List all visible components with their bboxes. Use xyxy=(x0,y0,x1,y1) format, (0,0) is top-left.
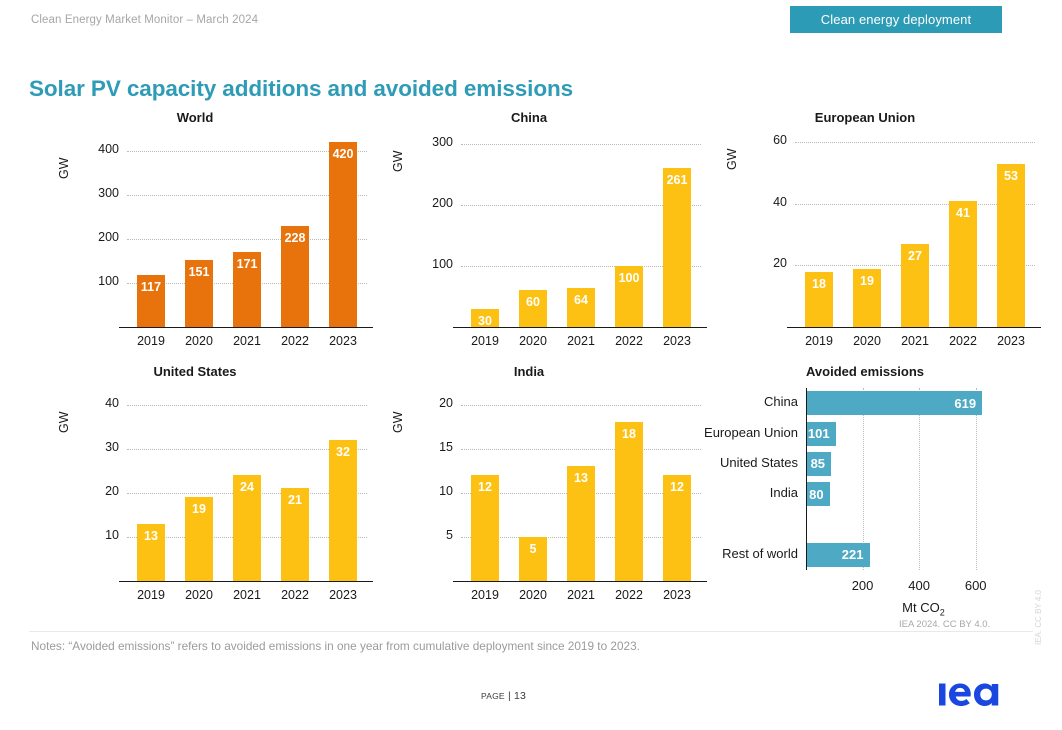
y-axis-unit: GW xyxy=(391,150,405,172)
topic-badge-label: Clean energy deployment xyxy=(821,12,971,27)
x-tick-2020: 2020 xyxy=(175,588,223,602)
source-note: IEA 2024. CC BY 4.0. xyxy=(899,619,990,630)
bar-value-united-states-0: 13 xyxy=(137,530,166,543)
gridline-y-300 xyxy=(461,144,701,145)
y-tick-100: 100 xyxy=(411,257,453,271)
y-tick-20: 20 xyxy=(77,484,119,498)
x-tick-2021: 2021 xyxy=(223,588,271,602)
page-number-value: 13 xyxy=(514,690,526,702)
chart-title-india: India xyxy=(364,364,694,379)
x-tick-2021: 2021 xyxy=(223,334,271,348)
x-axis-line xyxy=(453,581,707,582)
chart-panel-avoided-emissions: Avoided emissionsChina619European Union1… xyxy=(698,364,1032,614)
bar-value-china-2: 64 xyxy=(567,294,596,307)
bar-china-1: 60 xyxy=(519,290,548,327)
page-number-label-rest: AGE xyxy=(486,691,505,701)
bar-avoided-emissions-0: 619 xyxy=(807,391,982,415)
y-axis-unit: GW xyxy=(391,411,405,433)
x-tick-2019: 2019 xyxy=(127,334,175,348)
bar-value-india-0: 12 xyxy=(471,481,500,494)
bar-value-european-union-2: 27 xyxy=(901,250,930,263)
iea-logo xyxy=(939,675,1009,709)
cc-license-vertical: IEA. CC BY 4.0 xyxy=(1034,590,1043,645)
x-tick-2019: 2019 xyxy=(461,588,509,602)
bar-value-india-1: 5 xyxy=(519,543,548,556)
bar-european-union-1: 19 xyxy=(853,269,882,328)
bar-value-united-states-1: 19 xyxy=(185,503,214,516)
bar-value-avoided-emissions-1: 101 xyxy=(808,422,830,446)
chart-panel-china: China10020030030201960202064202110020222… xyxy=(364,110,694,350)
category-label-2: United States xyxy=(638,455,798,470)
y-tick-60: 60 xyxy=(745,133,787,147)
bar-value-european-union-1: 19 xyxy=(853,275,882,288)
bar-china-3: 100 xyxy=(615,266,644,327)
y-tick-5: 5 xyxy=(411,528,453,542)
bar-value-united-states-2: 24 xyxy=(233,481,262,494)
x-tick-2022: 2022 xyxy=(271,588,319,602)
footer-divider xyxy=(29,631,1033,632)
bar-european-union-3: 41 xyxy=(949,201,978,327)
y-tick-40: 40 xyxy=(745,195,787,209)
chart-title-european-union: European Union xyxy=(698,110,1032,125)
category-label-0: China xyxy=(638,394,798,409)
x-tick-2020: 2020 xyxy=(175,334,223,348)
bar-value-avoided-emissions-2: 85 xyxy=(811,452,825,476)
y-tick-30: 30 xyxy=(77,440,119,454)
plot-area-united-states: 10203040132019192020242021212022322023GW xyxy=(127,387,367,581)
x-axis-line xyxy=(119,327,373,328)
bar-china-0: 30 xyxy=(471,309,500,327)
bar-avoided-emissions-1: 101 xyxy=(807,422,836,446)
bar-value-world-1: 151 xyxy=(185,266,214,279)
y-tick-200: 200 xyxy=(77,230,119,244)
bar-value-china-3: 100 xyxy=(615,272,644,285)
bar-value-china-0: 30 xyxy=(471,315,500,328)
bar-value-china-4: 261 xyxy=(663,174,692,187)
plot-area-china: 1002003003020196020206420211002022261202… xyxy=(461,133,701,327)
bar-european-union-2: 27 xyxy=(901,244,930,327)
bar-european-union-4: 53 xyxy=(997,164,1026,327)
y-tick-300: 300 xyxy=(411,135,453,149)
gridline-y-60 xyxy=(795,142,1035,143)
x-tick-2019: 2019 xyxy=(127,588,175,602)
x-tick-600: 600 xyxy=(946,578,1006,593)
y-tick-20: 20 xyxy=(745,256,787,270)
document-kicker: Clean Energy Market Monitor – March 2024 xyxy=(31,14,258,26)
y-tick-200: 200 xyxy=(411,196,453,210)
x-tick-2023: 2023 xyxy=(319,334,367,348)
y-tick-40: 40 xyxy=(77,396,119,410)
y-tick-300: 300 xyxy=(77,186,119,200)
page-number: PAGE | 13 xyxy=(481,690,526,702)
plot-area-european-union: 204060182019192020272021412022532023GW xyxy=(795,133,1035,327)
x-tick-400: 400 xyxy=(889,578,949,593)
bar-value-united-states-3: 21 xyxy=(281,494,310,507)
topic-badge: Clean energy deployment xyxy=(790,6,1002,33)
bar-value-avoided-emissions-0: 619 xyxy=(954,391,976,415)
page-number-separator: | xyxy=(508,690,511,702)
x-tick-2022: 2022 xyxy=(605,588,653,602)
chart-panel-united-states: United States102030401320191920202420212… xyxy=(30,364,360,604)
x-axis-unit-subscript: 2 xyxy=(940,608,945,618)
chart-panel-european-union: European Union20406018201919202027202141… xyxy=(698,110,1032,350)
y-axis-unit: GW xyxy=(725,149,739,171)
x-tick-2020: 2020 xyxy=(509,334,557,348)
gridline-x-600 xyxy=(976,388,977,570)
y-axis-unit: GW xyxy=(57,411,71,433)
x-tick-2020: 2020 xyxy=(843,334,891,348)
gridline-y-40 xyxy=(127,405,367,406)
plot-area-avoided-emissions: China619European Union101United States85… xyxy=(806,388,1004,570)
x-tick-2021: 2021 xyxy=(891,334,939,348)
bar-india-1: 5 xyxy=(519,537,548,581)
bar-value-european-union-0: 18 xyxy=(805,278,834,291)
bar-avoided-emissions-5: 221 xyxy=(807,543,870,567)
x-tick-2021: 2021 xyxy=(557,588,605,602)
bar-value-china-1: 60 xyxy=(519,296,548,309)
x-axis-line xyxy=(787,327,1041,328)
bar-value-avoided-emissions-3: 80 xyxy=(809,482,823,506)
bar-value-world-2: 171 xyxy=(233,258,262,271)
x-tick-2022: 2022 xyxy=(605,334,653,348)
bar-united-states-4: 32 xyxy=(329,440,358,581)
x-tick-2023: 2023 xyxy=(653,588,701,602)
bar-value-united-states-4: 32 xyxy=(329,446,358,459)
bar-world-0: 117 xyxy=(137,275,166,327)
bar-united-states-2: 24 xyxy=(233,475,262,581)
bar-china-4: 261 xyxy=(663,168,692,327)
x-tick-2023: 2023 xyxy=(653,334,701,348)
bar-avoided-emissions-2: 85 xyxy=(807,452,831,476)
chart-title-world: World xyxy=(30,110,360,125)
bar-united-states-0: 13 xyxy=(137,524,166,581)
chart-panel-world: World10020030040011720191512020171202122… xyxy=(30,110,360,350)
y-tick-15: 15 xyxy=(411,440,453,454)
x-tick-2022: 2022 xyxy=(271,334,319,348)
page-title: Solar PV capacity additions and avoided … xyxy=(29,76,573,102)
x-tick-2019: 2019 xyxy=(795,334,843,348)
bar-value-india-2: 13 xyxy=(567,472,596,485)
gridline-y-15 xyxy=(461,449,701,450)
bar-value-world-4: 420 xyxy=(329,148,358,161)
bar-avoided-emissions-3: 80 xyxy=(807,482,830,506)
bar-value-european-union-4: 53 xyxy=(997,170,1026,183)
y-tick-10: 10 xyxy=(77,528,119,542)
x-axis-unit: Mt CO2 xyxy=(902,600,945,618)
y-tick-10: 10 xyxy=(411,484,453,498)
bar-united-states-3: 21 xyxy=(281,488,310,581)
gridline-x-400 xyxy=(919,388,920,570)
x-tick-2022: 2022 xyxy=(939,334,987,348)
bar-world-4: 420 xyxy=(329,142,358,327)
x-axis-unit-main: Mt CO xyxy=(902,600,940,615)
bar-value-world-3: 228 xyxy=(281,232,310,245)
chart-title-china: China xyxy=(364,110,694,125)
bar-value-world-0: 117 xyxy=(137,281,166,294)
category-label-1: European Union xyxy=(638,425,798,440)
y-tick-20: 20 xyxy=(411,396,453,410)
bar-value-avoided-emissions-5: 221 xyxy=(842,543,864,567)
bar-world-3: 228 xyxy=(281,226,310,327)
x-tick-2023: 2023 xyxy=(319,588,367,602)
chart-title-united-states: United States xyxy=(30,364,360,379)
y-axis-unit: GW xyxy=(57,157,71,179)
y-tick-400: 400 xyxy=(77,142,119,156)
x-axis-line xyxy=(119,581,373,582)
x-tick-2019: 2019 xyxy=(461,334,509,348)
bar-united-states-1: 19 xyxy=(185,497,214,581)
footnote-notes: Notes: “Avoided emissions” refers to avo… xyxy=(31,639,640,653)
bar-european-union-0: 18 xyxy=(805,272,834,327)
chart-title-avoided-emissions: Avoided emissions xyxy=(698,364,1032,379)
bar-china-2: 64 xyxy=(567,288,596,327)
y-tick-100: 100 xyxy=(77,274,119,288)
bar-value-european-union-3: 41 xyxy=(949,207,978,220)
bar-india-0: 12 xyxy=(471,475,500,581)
category-label-3: India xyxy=(638,485,798,500)
slide-page: Clean Energy Market Monitor – March 2024… xyxy=(0,0,1062,730)
bar-world-2: 171 xyxy=(233,252,262,327)
x-tick-2020: 2020 xyxy=(509,588,557,602)
plot-area-world: 1002003004001172019151202017120212282022… xyxy=(127,133,367,327)
x-tick-2021: 2021 xyxy=(557,334,605,348)
category-label-5: Rest of world xyxy=(638,546,798,561)
bar-india-2: 13 xyxy=(567,466,596,581)
x-tick-200: 200 xyxy=(833,578,893,593)
x-tick-2023: 2023 xyxy=(987,334,1035,348)
bar-world-1: 151 xyxy=(185,260,214,327)
